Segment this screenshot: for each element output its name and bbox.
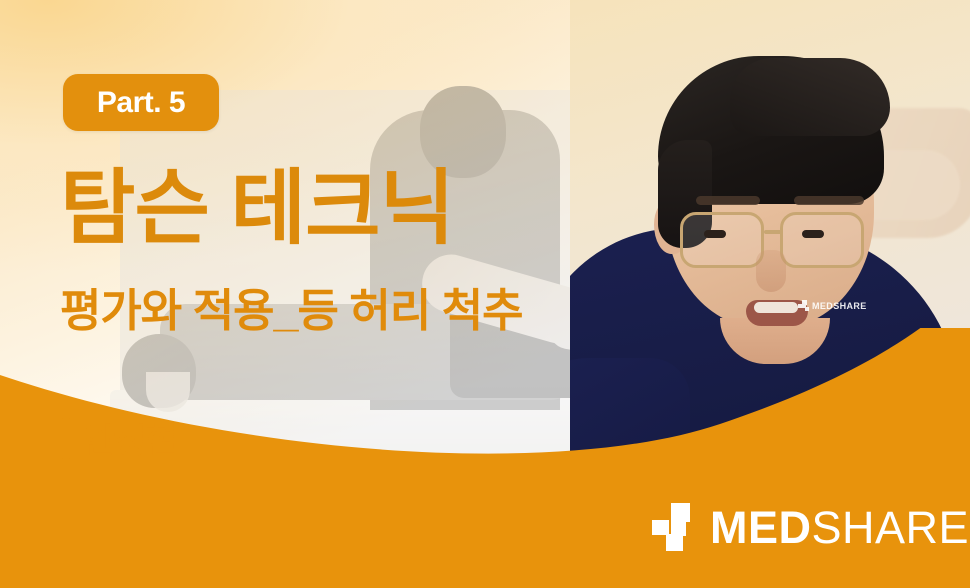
presenter-nose (756, 250, 786, 292)
presenter-teeth (754, 302, 798, 313)
glasses-lens-right (780, 212, 864, 268)
glasses-lens-left (680, 212, 764, 268)
laptop-indicator (570, 468, 576, 477)
brand-logo: MEDSHARE (652, 503, 969, 551)
thumbnail-canvas: MEDSHARE Part. 5 탐슨 테크닉 평가와 적용_등 허리 척추 안… (0, 0, 970, 588)
pixel-cross-icon (652, 503, 698, 551)
photo-table-leg (440, 512, 466, 560)
shirt-brand-label: MEDSHARE (812, 301, 867, 311)
speaker-name: 안성현 (83, 413, 177, 464)
pixel-cross-icon (798, 300, 809, 311)
presenter-hair-fringe (730, 58, 890, 136)
page-subtitle: 평가와 적용_등 허리 척추 (60, 288, 523, 333)
speaker-block: 안성현 (62, 413, 177, 464)
brand-wordmark: MEDSHARE (710, 505, 969, 550)
presenter-photo: MEDSHARE (570, 0, 970, 588)
photo-table-leg (190, 512, 216, 560)
presenter-eyebrow-right (794, 196, 864, 205)
shirt-brand-logo: MEDSHARE (798, 300, 867, 311)
page-title: 탐슨 테크닉 (60, 168, 454, 250)
part-badge: Part. 5 (63, 74, 219, 131)
brand-name-bold: MED (710, 502, 812, 553)
part-badge-label: Part. 5 (97, 86, 185, 120)
presenter-eye-right (802, 230, 824, 238)
brand-name-light: SHARE (812, 502, 970, 553)
presenter-eye-left (704, 230, 726, 238)
presenter-eyebrow-left (696, 196, 760, 205)
speaker-accent-bar (62, 418, 70, 459)
glasses-bridge (764, 230, 782, 234)
